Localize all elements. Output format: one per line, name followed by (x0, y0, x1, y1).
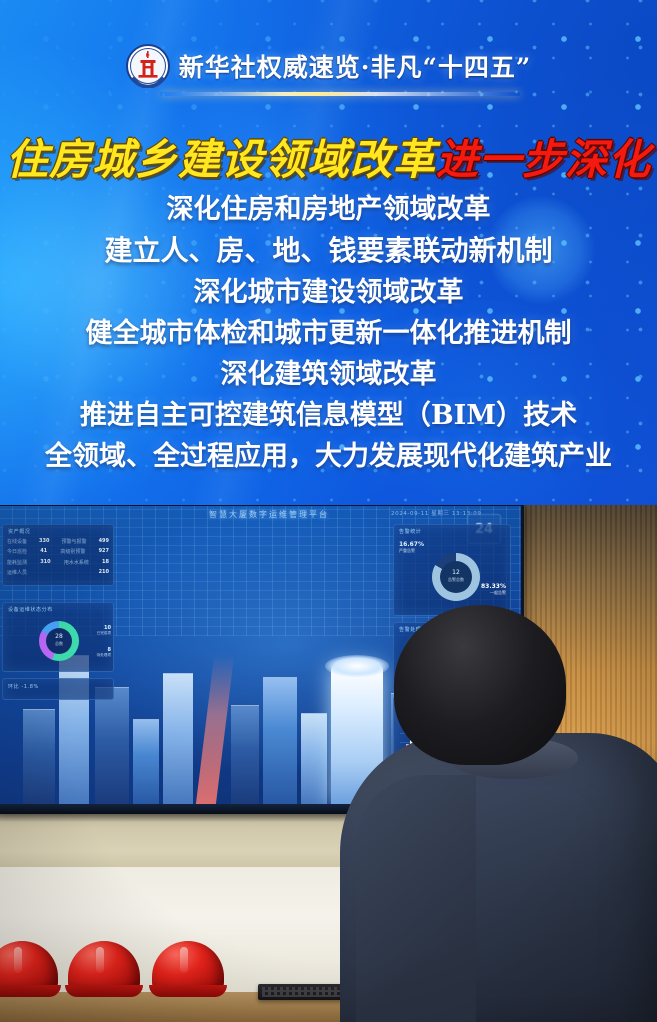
bullet-line: 全领域、全过程应用，大力发展现代化建筑产业 (0, 443, 657, 470)
alarm-general-stat: 83.33% 一般告警 (481, 583, 506, 596)
alarm-donut-center-label: 告警总数 (432, 577, 480, 582)
asset-stat-table: 在线设备 330 预警与报警 499 今日巡检 41 高级别预警 927 (7, 538, 109, 580)
header-divider (160, 92, 520, 96)
infographic-poster: 新华社权威速览·非凡“十四五” 住房城乡建设领域改革进一步深化 深化住房和房地产… (0, 0, 657, 1022)
header-title: 新华社权威速览·非凡“十四五” (179, 48, 531, 84)
highlighted-road (196, 655, 234, 805)
device-status-distribution-panel[interactable]: 设备运维状态分布 28 总数 10 已完成项 8 待处理项 (2, 602, 114, 672)
table-row: 在线设备 330 预警与报警 499 (7, 538, 109, 545)
bullet-line: 深化住房和房地产领域改革 (0, 196, 657, 223)
donut-side-value-2: 8 待处理项 (85, 647, 111, 658)
alarm-donut-center-value: 12 (452, 569, 460, 576)
bullet-line: 深化城市建设领域改革 (0, 279, 657, 306)
photo-area: 智慧大厦数字运维管理平台 2024-09-11 星期三 13:13:09 24 … (0, 505, 657, 1022)
page-title: 住房城乡建设领域改革进一步深化 (0, 126, 657, 187)
table-row: 今日巡检 41 高级别预警 927 (7, 548, 109, 555)
page-title-red-part: 进一步深化 (436, 135, 651, 184)
panel-header: 设备运维状态分布 (8, 606, 53, 613)
device-status-donut-chart: 28 总数 (39, 621, 79, 661)
red-hard-hat (0, 941, 58, 999)
bullet-line: 健全城市体检和城市更新一体化推进机制 (0, 320, 657, 347)
table-row: 能耗监测 310 用水水系统 18 (7, 559, 109, 566)
donut-side-value-1: 10 已完成项 (85, 625, 111, 636)
page-title-yellow-part: 住房城乡建设领域改革 (6, 135, 436, 184)
person-shoulder (356, 775, 476, 1022)
poster-header: 新华社权威速览·非凡“十四五” (0, 42, 657, 90)
alarm-severe-stat: 16.67% 严重告警 (399, 541, 424, 554)
bullet-line: 建立人、房、地、钱要素联动新机制 (0, 237, 657, 265)
person-viewing-screen (352, 605, 657, 1022)
bullet-line: 推进自主可控建筑信息模型（BIM）技术 (0, 402, 657, 429)
bullet-line: 深化建筑领域改革 (0, 361, 657, 388)
xinhua-news-agency-emblem-icon (126, 44, 170, 88)
dashboard-title: 智慧大厦数字运维管理平台 (149, 509, 389, 520)
red-hard-hat (152, 941, 224, 999)
trend-footer-panel[interactable]: 环比 -1.8% (2, 678, 114, 700)
panel-footer-text: 环比 -1.8% (8, 683, 39, 690)
person-head (394, 605, 566, 765)
alarm-donut-chart: 12 告警总数 (432, 553, 480, 601)
panel-header: 告警统计 (399, 528, 421, 535)
red-hard-hat (68, 941, 140, 999)
poster-graphic-area: 新华社权威速览·非凡“十四五” 住房城乡建设领域改革进一步深化 深化住房和房地产… (0, 0, 657, 512)
donut-center-value: 28 (55, 633, 63, 640)
table-row: 运维人员 210 (7, 569, 109, 576)
asset-overview-panel[interactable]: 资产概况 在线设备 330 预警与报警 499 今日巡检 41 高级别预警 (2, 524, 114, 586)
alarm-statistics-panel[interactable]: 告警统计 16.67% 严重告警 12 告警总数 83.33% (393, 524, 511, 616)
bullet-list: 深化住房和房地产领域改革 建立人、房、地、钱要素联动新机制 深化城市建设领域改革… (0, 196, 657, 470)
panel-header: 资产概况 (8, 528, 30, 535)
donut-center-label: 总数 (39, 641, 79, 646)
